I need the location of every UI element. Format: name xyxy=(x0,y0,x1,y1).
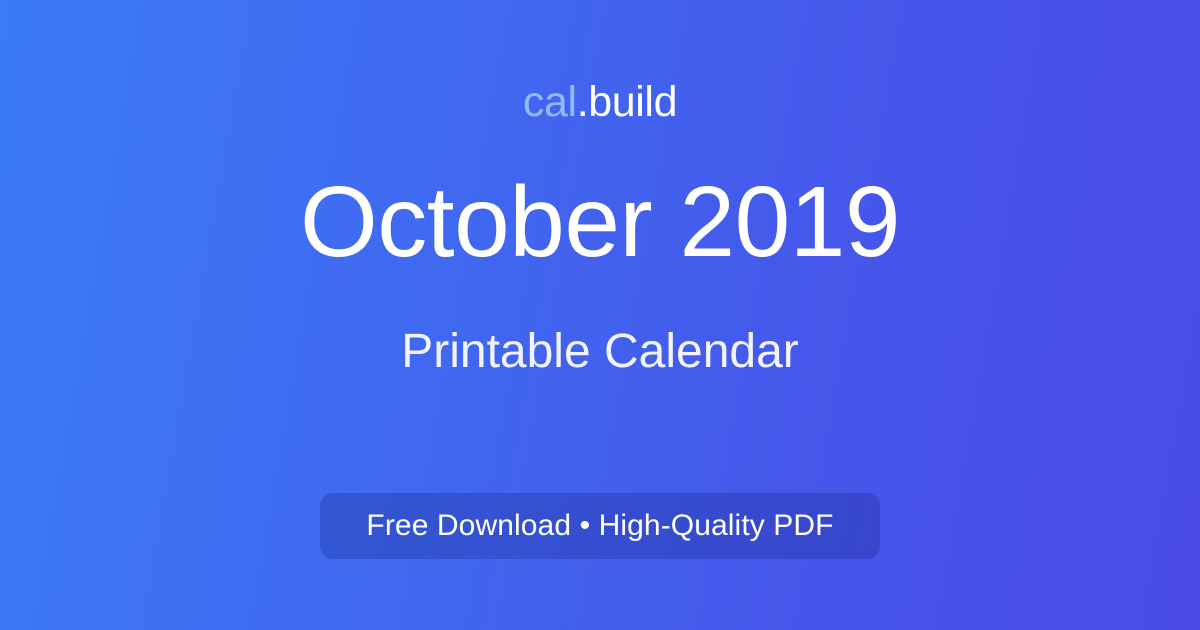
og-card: cal.build October 2019 Printable Calenda… xyxy=(0,0,1200,630)
logo-tld-text: .build xyxy=(577,78,677,126)
hero-text-block: October 2019 Printable Calendar xyxy=(0,168,1200,379)
badge-row: Free Download • High-Quality PDF xyxy=(0,493,1200,559)
download-badge[interactable]: Free Download • High-Quality PDF xyxy=(320,493,879,559)
page-subtitle: Printable Calendar xyxy=(401,326,799,379)
download-badge-label: Free Download • High-Quality PDF xyxy=(366,511,833,541)
page-title: October 2019 xyxy=(300,168,900,276)
logo-name-text: cal xyxy=(523,78,577,126)
site-logo[interactable]: cal.build xyxy=(523,81,677,124)
